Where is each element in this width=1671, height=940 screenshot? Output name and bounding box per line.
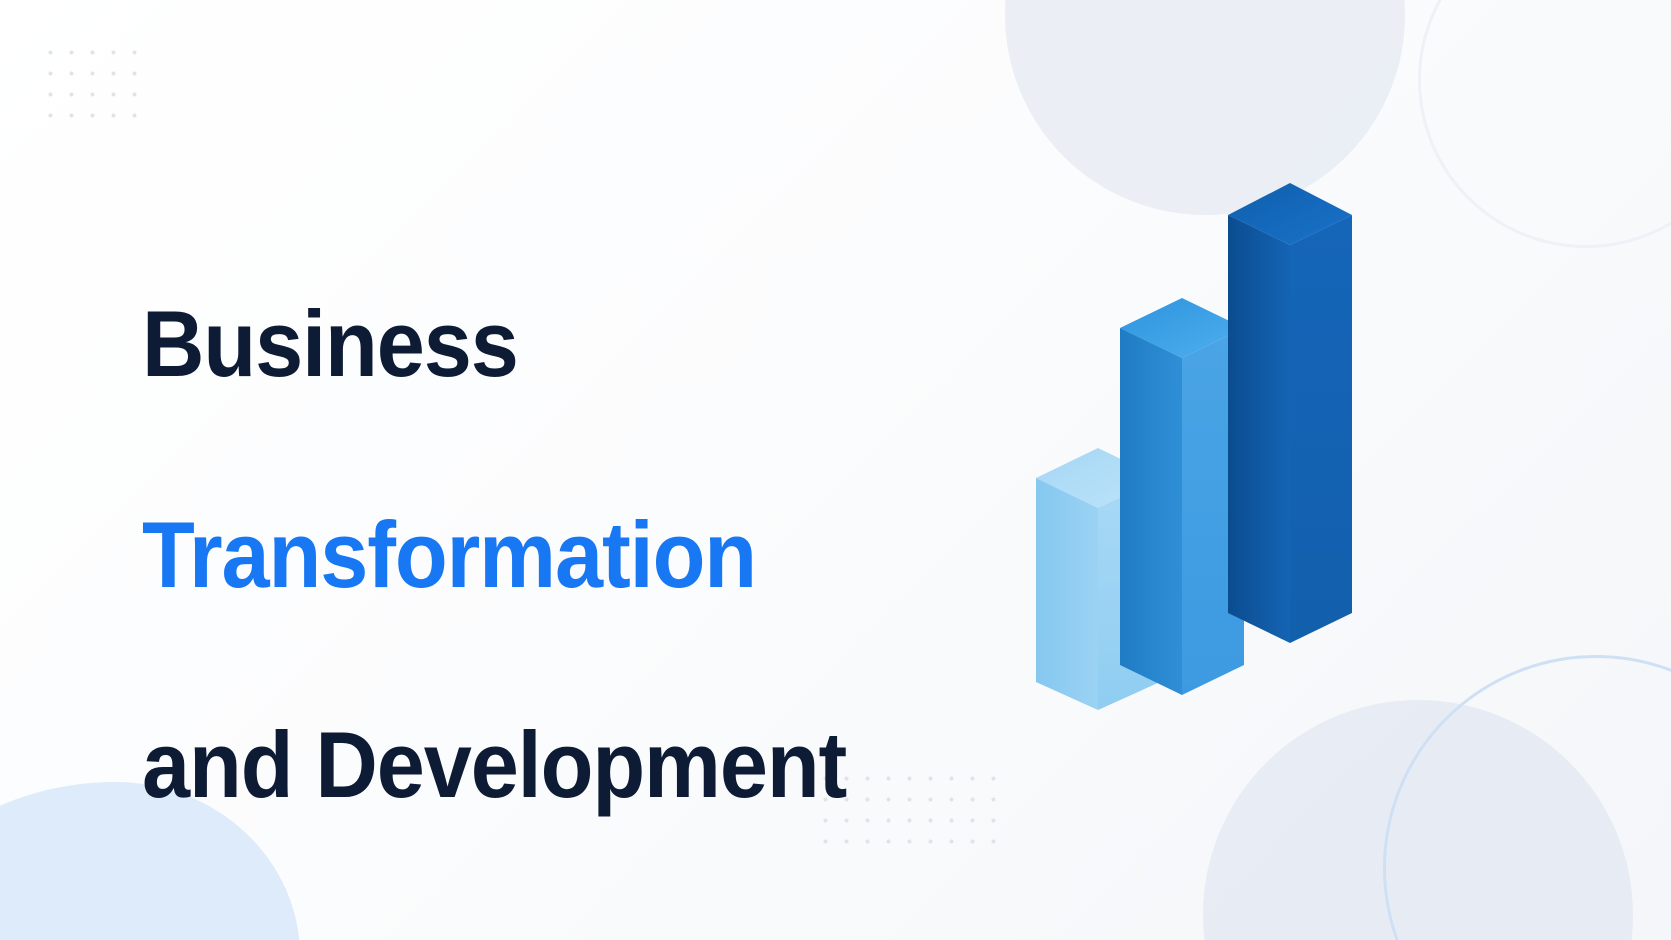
slide-canvas: Business Transformation and Development … bbox=[0, 0, 1671, 940]
bar-2 bbox=[1120, 298, 1244, 695]
bar-chart-illustration bbox=[1010, 165, 1430, 710]
decor-dot-grid-top-left bbox=[40, 42, 146, 128]
headline-line-3: and Development bbox=[142, 712, 970, 817]
headline-line-1: Business bbox=[142, 291, 970, 396]
headline-line-2-accent: Transformation bbox=[142, 502, 970, 607]
isometric-bar-chart bbox=[1010, 165, 1430, 710]
decor-circle-outline-top-right bbox=[1418, 0, 1671, 248]
page-title: Business Transformation and Development bbox=[142, 186, 970, 923]
decor-circle-filled-bottom-right bbox=[1203, 700, 1633, 940]
bar-3 bbox=[1228, 183, 1352, 643]
hero-content: Business Transformation and Development … bbox=[142, 186, 1042, 940]
